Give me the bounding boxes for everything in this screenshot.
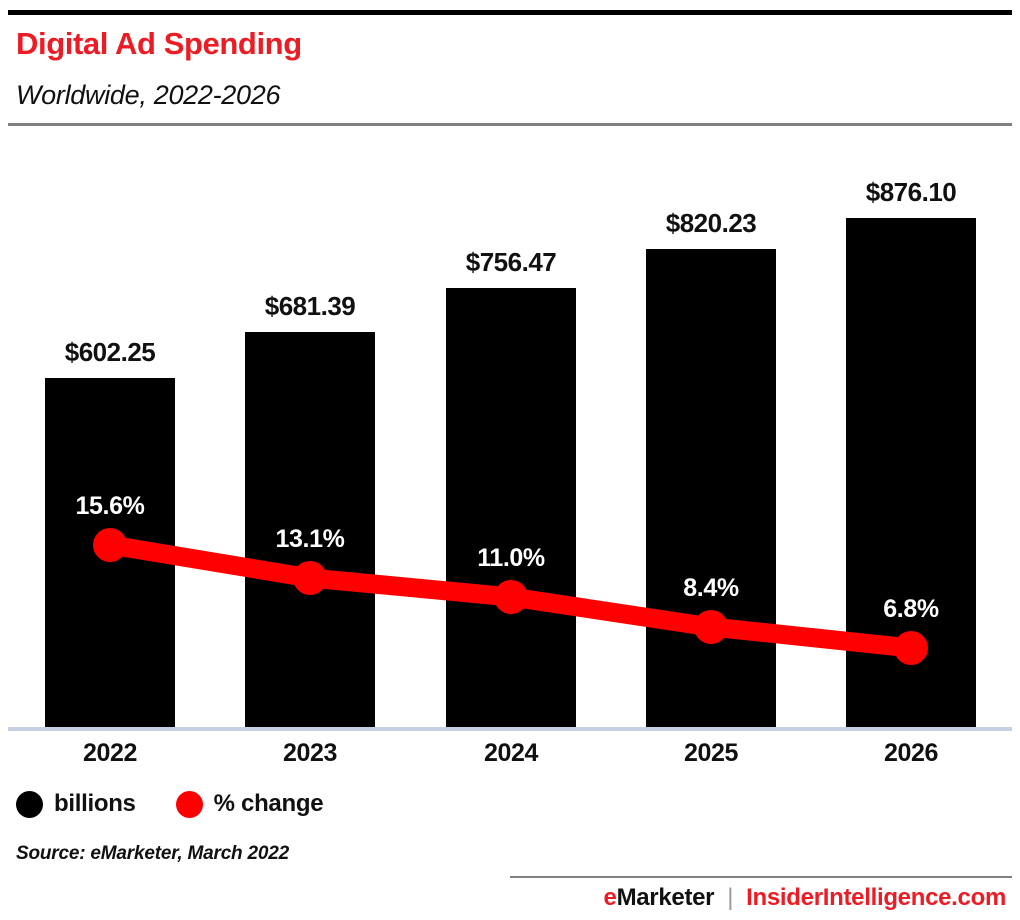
- bar-value-label: $602.25: [45, 337, 175, 368]
- brand-prefix: e: [604, 884, 617, 911]
- insider-intelligence-link[interactable]: InsiderIntelligence.com: [746, 884, 1006, 912]
- bar-2024: [446, 288, 576, 729]
- footer-separator: |: [727, 884, 733, 912]
- chart-legend: billions % change: [16, 790, 323, 818]
- circle-icon: [16, 791, 43, 818]
- circle-icon: [176, 791, 203, 818]
- bar-2026: [846, 218, 976, 729]
- x-axis-tick-2026: 2026: [846, 739, 976, 768]
- percent-change-label: 13.1%: [245, 525, 375, 554]
- bar-2022: [45, 378, 175, 729]
- legend-item-percent-change: % change: [176, 790, 324, 818]
- bar-value-label: $681.39: [245, 291, 375, 322]
- legend-item-billions: billions: [16, 790, 136, 818]
- bar-value-label: $876.10: [846, 177, 976, 208]
- source-note: Source: eMarketer, March 2022: [16, 843, 289, 865]
- percent-change-label: 15.6%: [45, 492, 175, 521]
- x-axis-tick-2025: 2025: [646, 739, 776, 768]
- bar-value-label: $820.23: [646, 208, 776, 239]
- bar-value-label: $756.47: [446, 247, 576, 278]
- x-axis-tick-2022: 2022: [45, 739, 175, 768]
- brand-name: Marketer: [617, 884, 715, 911]
- footer-branding: eMarketer | InsiderIntelligence.com: [604, 884, 1007, 912]
- x-axis-tick-2024: 2024: [446, 739, 576, 768]
- x-axis-tick-2023: 2023: [245, 739, 375, 768]
- percent-change-label: 11.0%: [446, 544, 576, 573]
- chart-plot-area: $602.25 $681.39 $756.47 $820.23 $876.10 …: [0, 0, 1020, 920]
- emarketer-logo: eMarketer: [604, 884, 715, 912]
- percent-change-label: 8.4%: [646, 574, 776, 603]
- bar-2025: [646, 249, 776, 729]
- legend-label: billions: [54, 790, 136, 818]
- percent-change-label: 6.8%: [846, 595, 976, 624]
- legend-label: % change: [214, 790, 324, 818]
- x-axis-line: [8, 727, 1012, 731]
- footer-divider: [510, 876, 1012, 878]
